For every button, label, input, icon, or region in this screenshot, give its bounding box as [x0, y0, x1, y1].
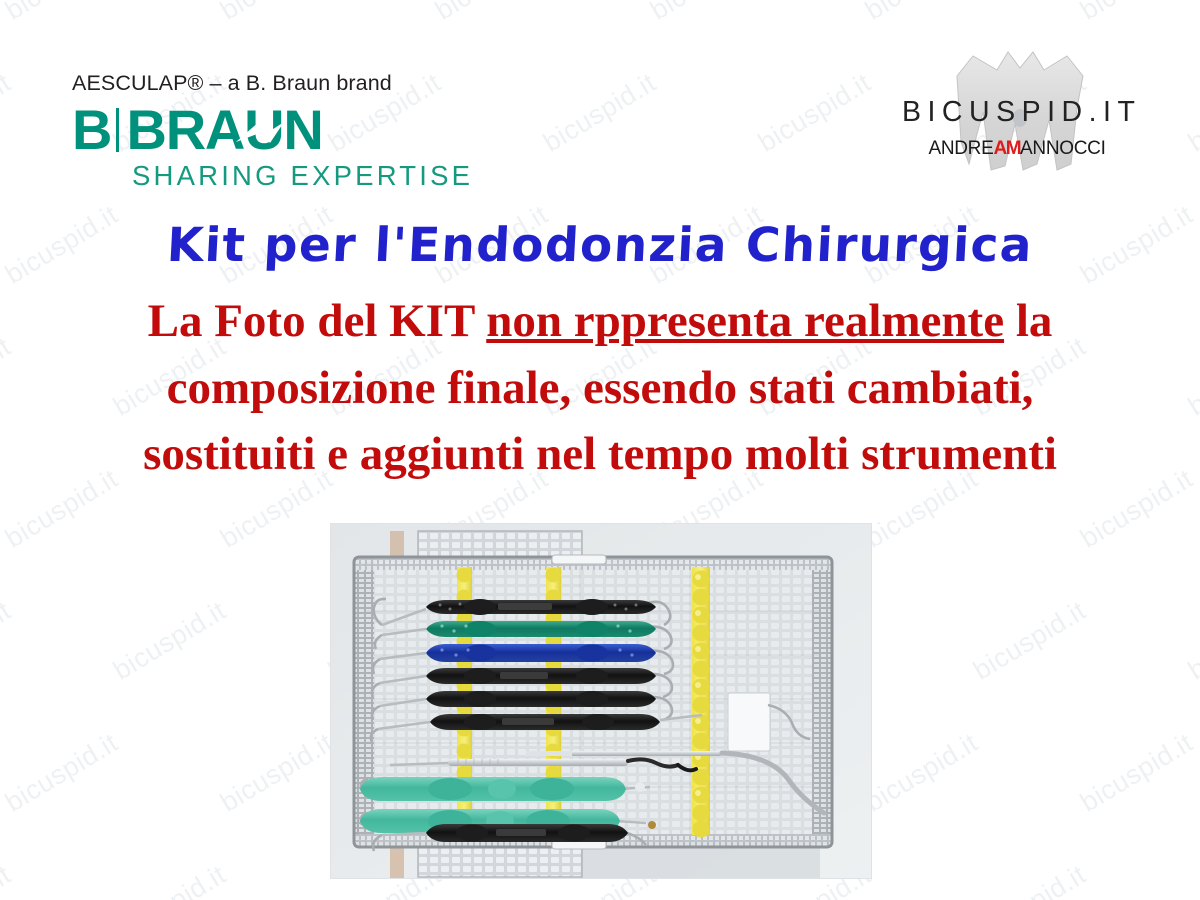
kit-photo-image — [330, 523, 872, 879]
watermark-text: bicuspid.it — [1183, 67, 1200, 158]
watermark-text: bicuspid.it — [430, 0, 554, 27]
watermark-text: bicuspid.it — [0, 859, 16, 900]
warning-line-1-pre: La Foto del KIT — [148, 295, 487, 347]
watermark-text: bicuspid.it — [0, 67, 16, 158]
kit-photo — [330, 523, 872, 879]
mannocci-pre: ANDRE — [928, 138, 993, 159]
watermark-text: bicuspid.it — [860, 727, 984, 818]
watermark-text: bicuspid.it — [1183, 859, 1200, 900]
braun-divider-bar — [116, 108, 119, 152]
watermark-text: bicuspid.it — [645, 0, 769, 27]
instrument-row-9 — [360, 777, 650, 801]
watermark-text: bicuspid.it — [860, 0, 984, 27]
page-title: Kit per l'Endodonzia Chirurgica — [0, 218, 1200, 273]
braun-letters-braun: BRAUN — [126, 102, 322, 158]
watermark-text: bicuspid.it — [538, 67, 662, 158]
watermark-text: bicuspid.it — [753, 67, 877, 158]
warning-line-2: composizione finale, essendo stati cambi… — [0, 355, 1200, 422]
watermark-text: bicuspid.it — [108, 859, 232, 900]
braun-text: BRAUN — [126, 98, 322, 161]
bicuspid-wordmark: BICUSPID.IT — [902, 96, 1132, 129]
braun-letter-b: B — [72, 102, 111, 158]
warning-text: La Foto del KIT non rppresenta realmente… — [0, 288, 1200, 488]
mannocci-accent: AM — [993, 138, 1020, 159]
braun-wordmark: B BRAUN — [72, 102, 473, 158]
watermark-text: bicuspid.it — [0, 0, 124, 27]
warning-line-1: La Foto del KIT non rppresenta realmente… — [0, 288, 1200, 355]
watermark-text: bicuspid.it — [1183, 595, 1200, 686]
slide-canvas: bicuspid.itbicuspid.itbicuspid.itbicuspi… — [0, 0, 1200, 900]
warning-line-1-post: la — [1004, 295, 1052, 347]
warning-emphasis: non rppresenta realmente — [486, 295, 1004, 347]
warning-line-3: sostituiti e aggiunti nel tempo molti st… — [0, 421, 1200, 488]
watermark-text: bicuspid.it — [0, 727, 124, 818]
watermark-text: bicuspid.it — [968, 859, 1092, 900]
watermark-text: bicuspid.it — [968, 595, 1092, 686]
watermark-text: bicuspid.it — [1075, 727, 1199, 818]
watermark-text: bicuspid.it — [108, 595, 232, 686]
silicone-bar-right — [692, 567, 710, 838]
watermark-text: bicuspid.it — [0, 595, 16, 686]
watermark-text: bicuspid.it — [1075, 0, 1199, 27]
andrea-mannocci-subline: ANDREAMANNOCCI — [902, 138, 1132, 160]
bicuspid-logo[interactable]: BICUSPID.IT ANDREAMANNOCCI — [902, 46, 1132, 176]
watermark-text: bicuspid.it — [215, 727, 339, 818]
watermark-text: bicuspid.it — [215, 0, 339, 27]
aesculap-brand-line: AESCULAP® – a B. Braun brand — [72, 72, 473, 96]
aesculap-braun-logo: AESCULAP® – a B. Braun brand B BRAUN SHA… — [72, 72, 473, 192]
mannocci-post: ANNOCCI — [1020, 138, 1106, 159]
braun-tagline: SHARING EXPERTISE — [132, 160, 473, 192]
